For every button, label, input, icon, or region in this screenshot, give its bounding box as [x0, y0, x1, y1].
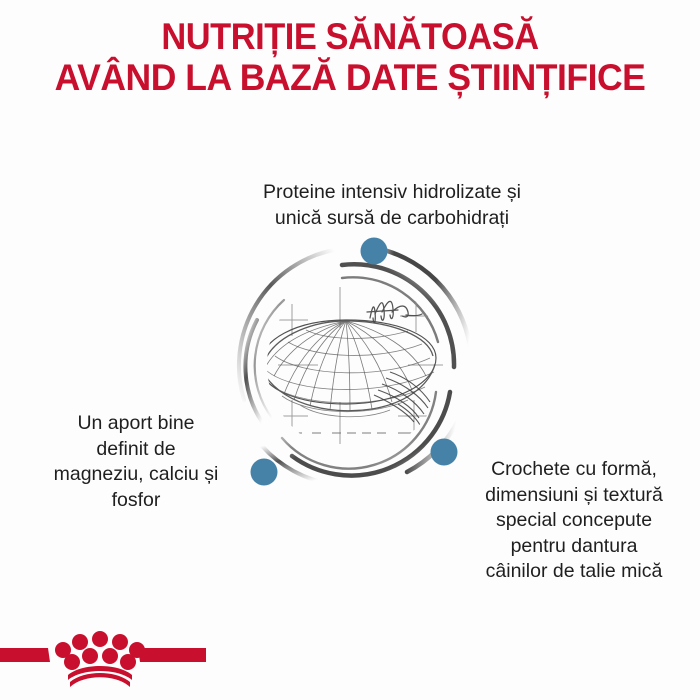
royal-canin-logo: [0, 628, 206, 690]
product-feature-panel: NUTRIȚIE SĂNĂTOASĂ AVÂND LA BAZĂ DATE ȘT…: [0, 0, 700, 700]
page-title-line-2: AVÂND LA BAZĂ DATE ȘTIINȚIFICE: [14, 59, 686, 96]
kibble-wireframe-sketch: [260, 287, 446, 444]
callout-node-bottom-left: [251, 459, 278, 486]
callout-node-bottom-right: [431, 439, 458, 466]
kibble-technical-sketch-diagram: [222, 232, 488, 498]
royal-canin-crown-icon: [0, 628, 206, 690]
callout-node-top: [361, 238, 388, 265]
callout-label-left: Un aport bine definit de magneziu, calci…: [24, 411, 248, 513]
handwritten-signature-annotation: [367, 301, 422, 322]
page-title-line-1: NUTRIȚIE SĂNĂTOASĂ: [25, 18, 676, 55]
callout-label-top: Proteine intensiv hidrolizate și unică s…: [218, 180, 566, 231]
callout-label-right: Crochete cu formă, dimensiuni și textură…: [452, 457, 696, 585]
page-title: NUTRIȚIE SĂNĂTOASĂ AVÂND LA BAZĂ DATE ȘT…: [0, 18, 700, 96]
